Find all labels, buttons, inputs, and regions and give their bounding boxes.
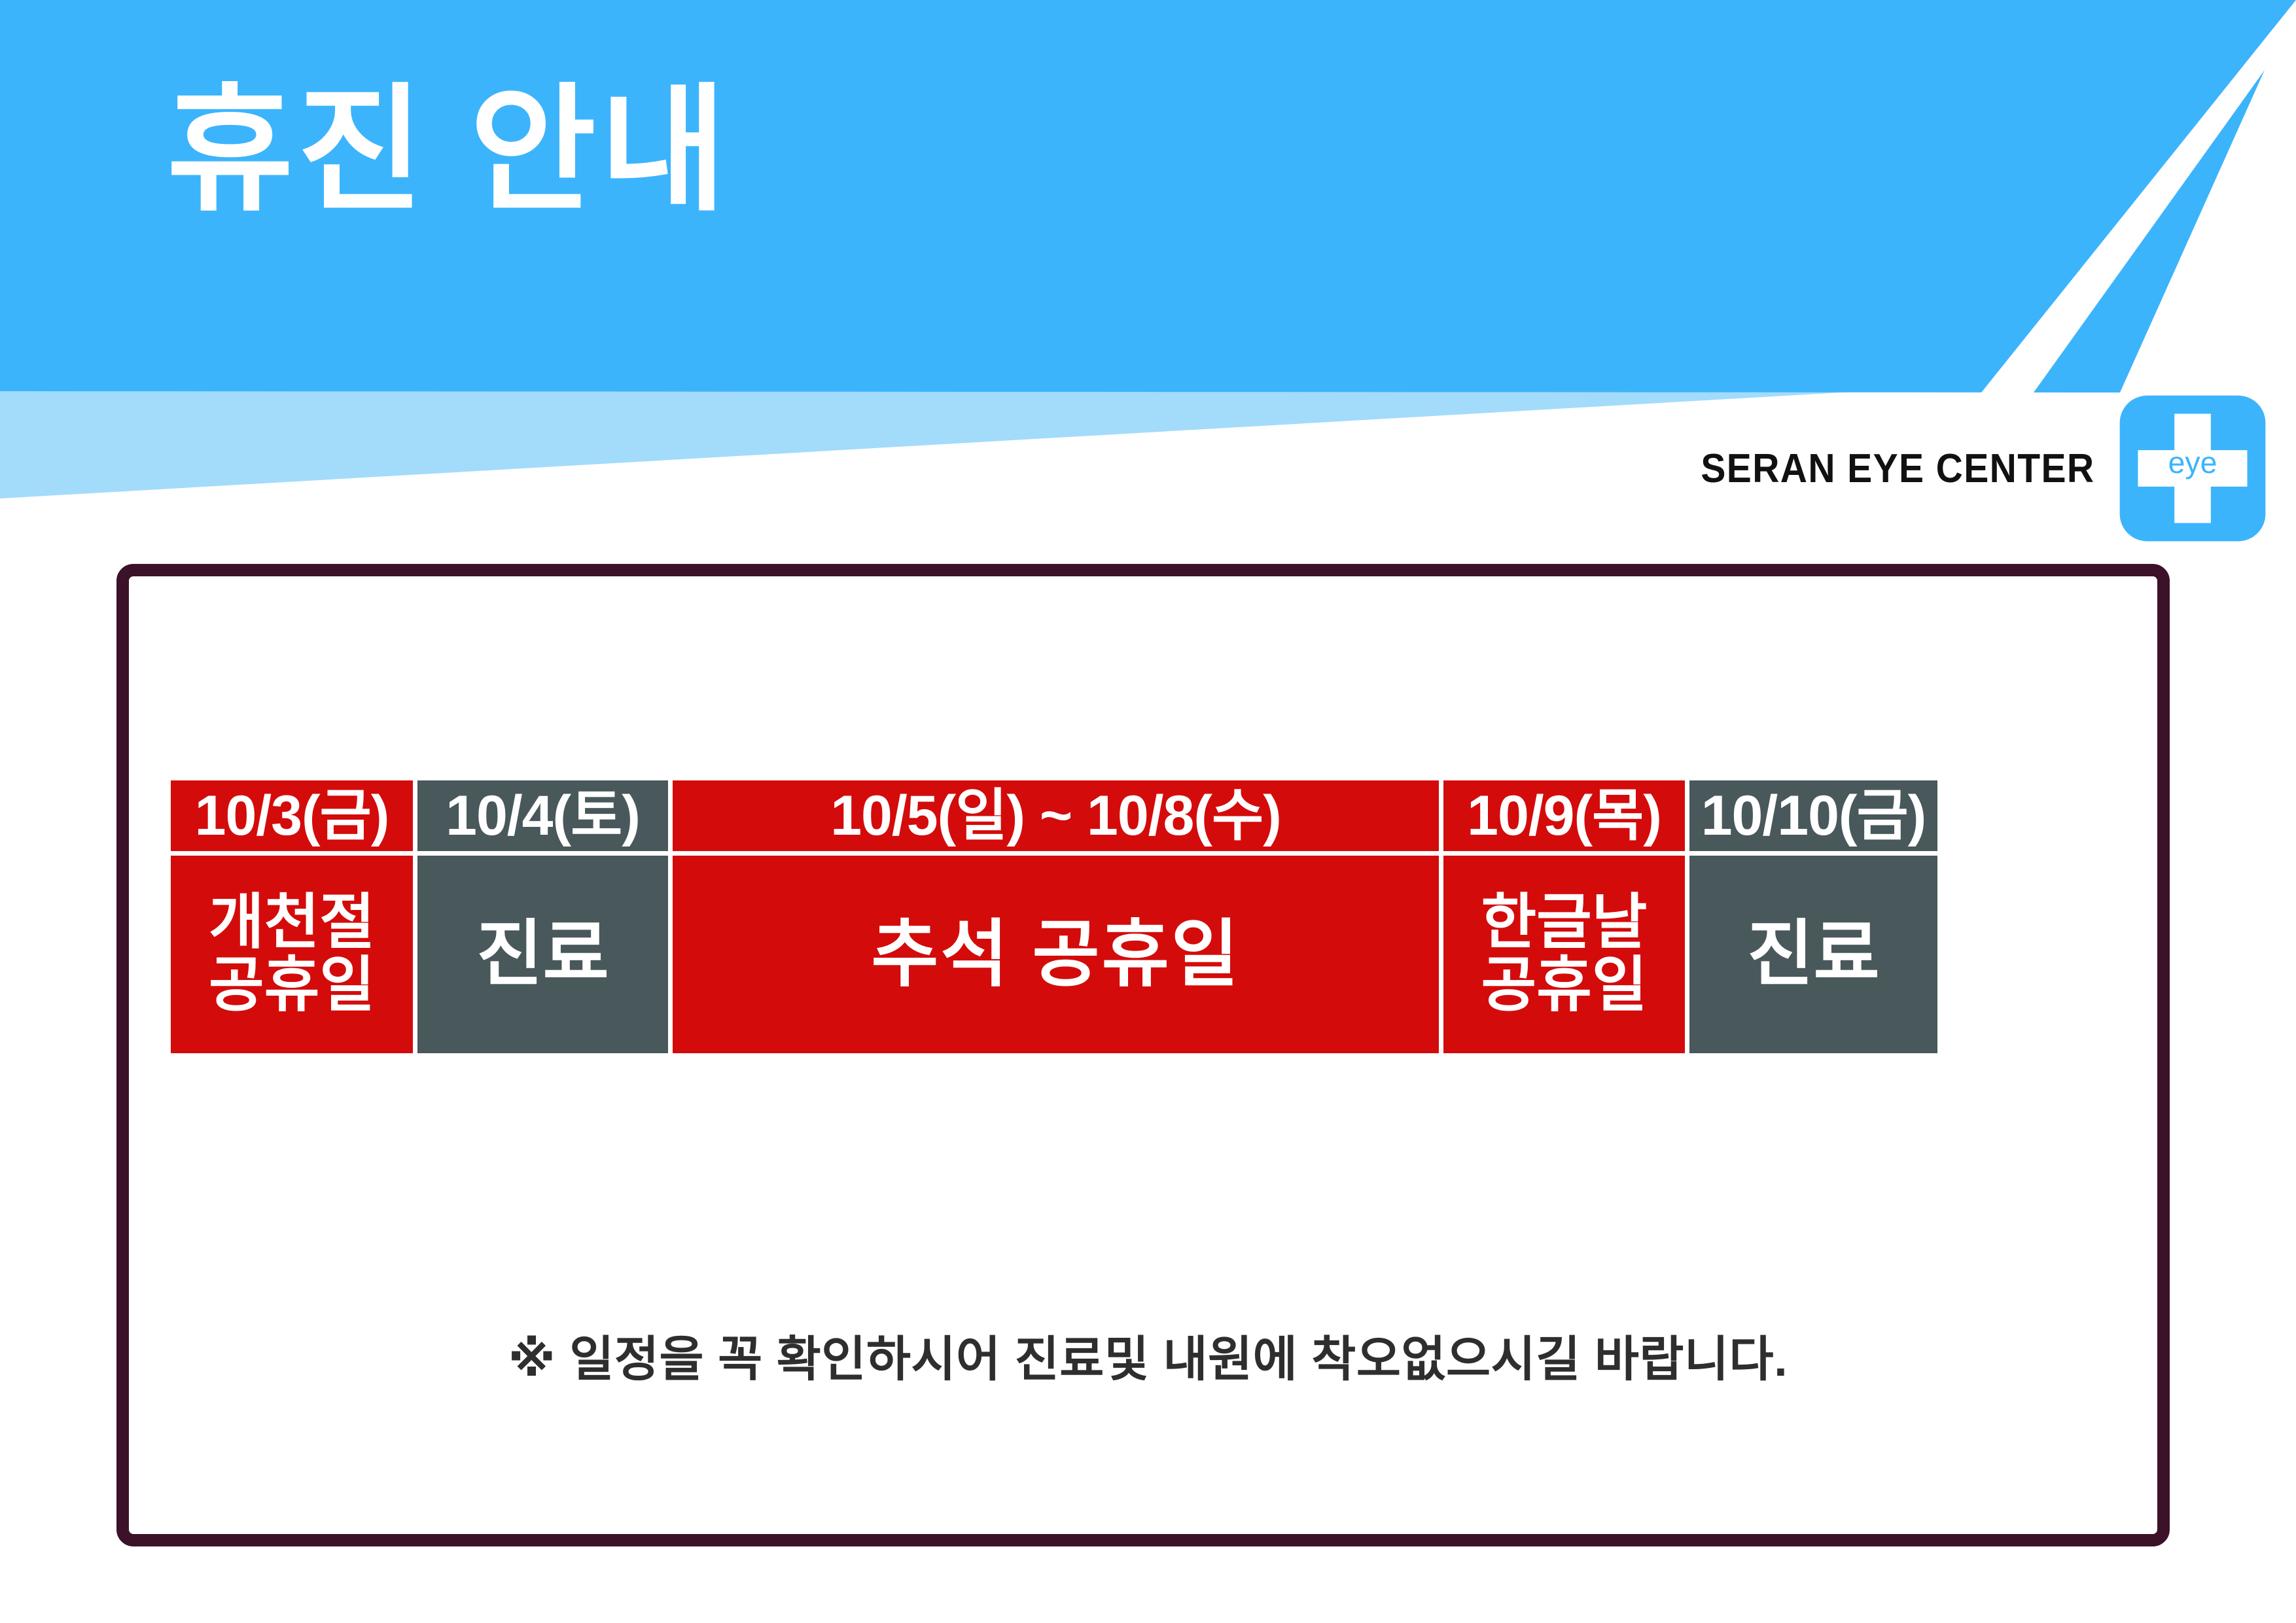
schedule-table: 10/3(금) 10/4(토) 10/5(일) ~ 10/8(수) 10/9(목… — [171, 780, 2125, 1053]
page-title: 휴진 안내 — [167, 79, 730, 223]
schedule-status-cell: 한글날 공휴일 — [1443, 856, 1685, 1053]
schedule-date-cell: 10/4(토) — [417, 780, 668, 851]
medical-cross-eye-logo-icon: eye — [2117, 393, 2269, 544]
banner-white-notch-right — [1950, 0, 2296, 432]
brand-name: SERAN EYE CENTER — [1701, 445, 2094, 492]
schedule-header-row: 10/3(금) 10/4(토) 10/5(일) ~ 10/8(수) 10/9(목… — [171, 780, 2125, 851]
schedule-status-cell: 추석 공휴일 — [673, 856, 1439, 1053]
schedule-date-cell: 10/9(목) — [1443, 780, 1685, 851]
schedule-date-cell: 10/5(일) ~ 10/8(수) — [673, 780, 1439, 851]
brand-lockup: SERAN EYE CENTER eye — [1667, 393, 2269, 544]
footer-note: ※ 일정을 꼭 확인하시어 진료및 내원에 착오없으시길 바랍니다. — [0, 1320, 2296, 1390]
schedule-status-cell: 진료 — [417, 856, 668, 1053]
schedule-date-cell: 10/10(금) — [1689, 780, 1937, 851]
schedule-status-cell: 진료 — [1689, 856, 1937, 1053]
schedule-status-row: 개천절 공휴일 진료 추석 공휴일 한글날 공휴일 진료 — [171, 856, 2125, 1053]
schedule-status-cell: 개천절 공휴일 — [171, 856, 413, 1053]
schedule-date-cell: 10/3(금) — [171, 780, 413, 851]
notice-card — [116, 564, 2170, 1546]
svg-text:eye: eye — [2168, 445, 2217, 480]
